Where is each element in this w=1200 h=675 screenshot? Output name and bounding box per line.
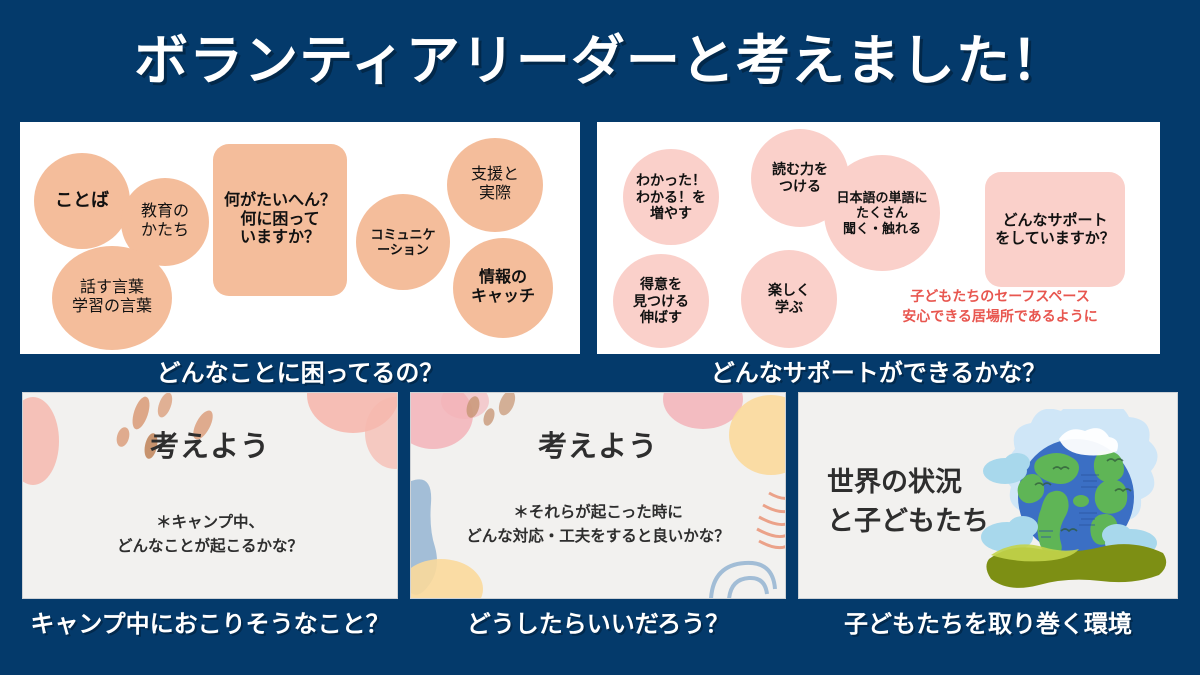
bubble-wakatta-wakaru[interactable]: わかった！わかる！を増やす — [623, 149, 719, 245]
earth-globe-icon — [981, 409, 1171, 589]
caption-troubles: どんなことに困ってるの？ — [20, 362, 580, 386]
bubble-hanasu-kotoba[interactable]: 話す言葉学習の言葉 — [52, 246, 172, 350]
bubble-kotoba[interactable]: ことば — [34, 153, 130, 249]
troubles-panel: ことば 教育のかたち 話す言葉学習の言葉 何がたいへん？何に困っていますか？ コ… — [20, 122, 580, 354]
bubble-tokui-mitsukeru[interactable]: 得意を見つける伸ばす — [613, 254, 709, 348]
card-body: ＊それらが起こった時にどんな対応・工夫をすると良いかな？ — [411, 501, 785, 549]
bubble-joho-catch[interactable]: 情報のキャッチ — [453, 238, 553, 338]
bubble-tanoshiku-manabu[interactable]: 楽しく学ぶ — [741, 250, 837, 348]
caption-camp-troubles: キャンプ中におこりそうなこと？ — [22, 613, 398, 637]
responses-card[interactable]: 考えよう ＊それらが起こった時にどんな対応・工夫をすると良いかな？ — [410, 392, 786, 599]
bubble-support-question[interactable]: どんなサポートをしていますか？ — [985, 172, 1125, 287]
camp-troubles-card[interactable]: 考えよう ＊キャンプ中、どんなことが起こるかな？ — [22, 392, 398, 599]
card-heading: 考えよう — [23, 423, 397, 465]
bubble-main-question[interactable]: 何がたいへん？何に困っていますか？ — [213, 144, 347, 296]
bubble-communication[interactable]: コミュニケーション — [356, 194, 450, 290]
caption-responses: どうしたらいいだろう？ — [410, 613, 786, 637]
caption-world-situation: 子どもたちを取り巻く環境 — [798, 613, 1178, 637]
support-panel: わかった！わかる！を増やす 読む力をつける 日本語の単語にたくさん聞く・触れる … — [597, 122, 1160, 354]
safe-space-note: 子どもたちのセーフスペース安心できる居場所であるように — [855, 287, 1145, 327]
card-heading: 考えよう — [411, 423, 785, 465]
bubble-shien-jissai[interactable]: 支援と実際 — [447, 138, 543, 232]
world-situation-card[interactable]: 世界の状況と子どもたち — [798, 392, 1178, 599]
card-heading: 世界の状況と子どもたち — [827, 463, 989, 541]
caption-support: どんなサポートができるかな？ — [597, 362, 1160, 386]
slide-title: ボランティアリーダーと考えました！ — [0, 34, 1200, 88]
bubble-nihongo-tango[interactable]: 日本語の単語にたくさん聞く・触れる — [824, 155, 940, 271]
card-body: ＊キャンプ中、どんなことが起こるかな？ — [23, 511, 397, 559]
